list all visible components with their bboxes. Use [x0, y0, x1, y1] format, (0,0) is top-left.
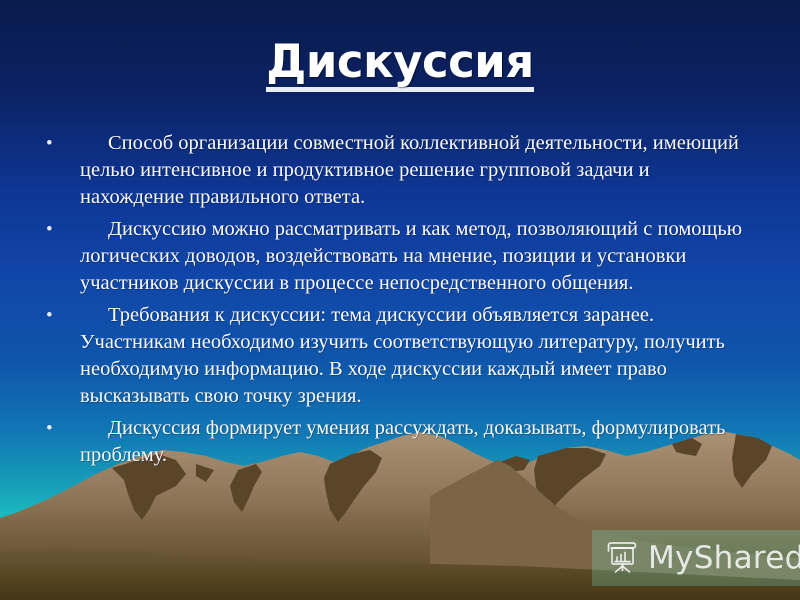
presentation-chart-icon [602, 538, 642, 578]
bullet-item: • Требования к дискуссии: тема дискуссии… [38, 302, 748, 410]
bullet-marker-icon: • [38, 415, 80, 442]
bullet-text: Требования к дискуссии: тема дискуссии о… [80, 302, 748, 410]
slide-body-bullet-list: • Способ организации совместной коллекти… [38, 130, 748, 474]
bullet-text: Дискуссия формирует умения рассуждать, д… [80, 415, 748, 469]
watermark-label: MyShared [648, 543, 800, 574]
myshared-watermark: MyShared [592, 530, 800, 586]
bullet-marker-icon: • [38, 130, 80, 157]
slide-title-container: Дискуссия [0, 38, 800, 92]
slide-title: Дискуссия [266, 38, 533, 92]
bullet-item: • Дискуссия формирует умения рассуждать,… [38, 415, 748, 469]
bullet-marker-icon: • [38, 216, 80, 243]
bullet-text: Способ организации совместной коллективн… [80, 130, 748, 211]
bullet-marker-icon: • [38, 302, 80, 329]
bullet-item: • Дискуссию можно рассматривать и как ме… [38, 216, 748, 297]
bullet-text: Дискуссию можно рассматривать и как мето… [80, 216, 748, 297]
presentation-slide: Дискуссия • Способ организации совместно… [0, 0, 800, 600]
bullet-item: • Способ организации совместной коллекти… [38, 130, 748, 211]
